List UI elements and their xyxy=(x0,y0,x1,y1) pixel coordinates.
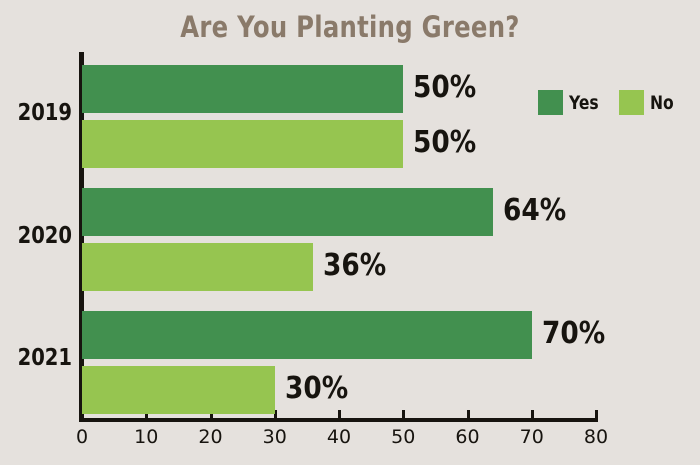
x-axis-tick-label-70: 70 xyxy=(520,426,544,448)
legend-label-no: No xyxy=(650,92,674,114)
bar-label-2019-no: 50% xyxy=(413,128,476,158)
bar-2021-no[interactable] xyxy=(82,366,275,414)
legend-item-no[interactable]: No xyxy=(619,90,679,115)
bar-label-2021-no: 30% xyxy=(285,374,348,404)
x-axis-tick-label-20: 20 xyxy=(198,426,222,448)
x-axis-tick-label-60: 60 xyxy=(455,426,479,448)
bar-label-2020-yes: 64% xyxy=(503,196,566,226)
x-axis-tick-label-40: 40 xyxy=(327,426,351,448)
y-axis-label-2020: 2020 xyxy=(18,223,72,249)
bar-label-2019-yes: 50% xyxy=(413,73,476,103)
y-axis-label-2019: 2019 xyxy=(18,100,72,126)
bar-2020-no[interactable] xyxy=(82,243,313,291)
x-axis-tick-label-30: 30 xyxy=(263,426,287,448)
plot-area: 50% 50% 64% 36% 70% 30% xyxy=(82,58,596,420)
bar-2020-yes[interactable] xyxy=(82,188,493,236)
legend-swatch-no-icon xyxy=(619,90,644,115)
bar-label-2020-no: 36% xyxy=(323,251,386,281)
bar-label-2021-yes: 70% xyxy=(542,319,605,349)
chart-container: Are You Planting Green? Yes No 2019 2020… xyxy=(0,0,700,465)
x-axis-tick-label-0: 0 xyxy=(76,426,88,448)
x-axis-tick-label-10: 10 xyxy=(134,426,158,448)
x-axis-tick-label-80: 80 xyxy=(584,426,608,448)
x-axis-tick-label-50: 50 xyxy=(391,426,415,448)
bar-2019-yes[interactable] xyxy=(82,65,403,113)
y-axis-category-labels: 2019 2020 2021 xyxy=(0,0,72,465)
y-axis-label-2021: 2021 xyxy=(18,345,72,371)
page-title: Are You Planting Green? xyxy=(56,10,644,44)
bar-2021-yes[interactable] xyxy=(82,311,532,359)
bar-2019-no[interactable] xyxy=(82,120,403,168)
